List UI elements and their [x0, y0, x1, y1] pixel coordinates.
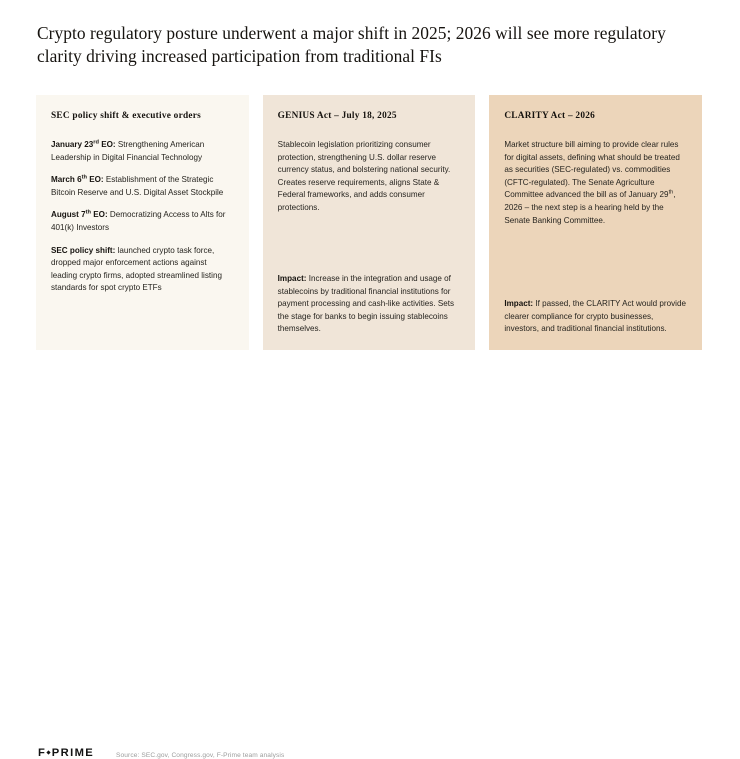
- card-body: Stablecoin legislation prioritizing cons…: [278, 139, 461, 215]
- bullet-march-eo: March 6th EO: Establishment of the Strat…: [51, 174, 234, 199]
- logo-text-left: F: [38, 748, 46, 759]
- card-clarity-act: CLARITY Act – 2026 Market structure bill…: [489, 95, 702, 350]
- impact-lead: Impact:: [504, 299, 533, 308]
- card-spacer: [504, 227, 687, 298]
- bullet-january-eo: January 23rd EO: Strengthening American …: [51, 139, 234, 164]
- card-description: Stablecoin legislation prioritizing cons…: [278, 139, 461, 215]
- bullet-lead: January 23: [51, 140, 93, 149]
- bullet-lead-tail: EO:: [87, 175, 104, 184]
- card-title: GENIUS Act – July 18, 2025: [278, 111, 461, 121]
- bullet-lead: March 6: [51, 175, 82, 184]
- card-genius-act: GENIUS Act – July 18, 2025 Stablecoin le…: [263, 95, 476, 350]
- card-description: Market structure bill aiming to provide …: [504, 139, 687, 227]
- card-impact: Impact: If passed, the CLARITY Act would…: [504, 298, 687, 336]
- source-note: Source: SEC.gov, Congress.gov, F-Prime t…: [116, 752, 284, 759]
- bullet-lead: SEC policy shift:: [51, 246, 115, 255]
- card-row: SEC policy shift & executive orders Janu…: [36, 95, 702, 350]
- bullet-lead-tail: EO:: [99, 140, 116, 149]
- card-sec-policy-shift: SEC policy shift & executive orders Janu…: [36, 95, 249, 350]
- impact-lead: Impact:: [278, 274, 307, 283]
- fprime-logo: FPRIME: [38, 748, 94, 759]
- footer: FPRIME Source: SEC.gov, Congress.gov, F-…: [0, 370, 740, 415]
- bullet-lead-tail: EO:: [91, 210, 108, 219]
- logo-separator-icon: [47, 750, 51, 754]
- bullet-august-eo: August 7th EO: Democratizing Access to A…: [51, 209, 234, 234]
- card-title: CLARITY Act – 2026: [504, 111, 687, 121]
- card-title: SEC policy shift & executive orders: [51, 111, 234, 121]
- description-pre: Market structure bill aiming to provide …: [504, 140, 679, 199]
- page-title: Crypto regulatory posture underwent a ma…: [37, 22, 677, 67]
- card-body: January 23rd EO: Strengthening American …: [51, 139, 234, 295]
- bullet-lead: August 7: [51, 210, 86, 219]
- card-impact: Impact: Increase in the integration and …: [278, 273, 461, 336]
- bullet-sec-policy-shift: SEC policy shift: launched crypto task f…: [51, 245, 234, 295]
- logo-text-right: PRIME: [52, 748, 94, 759]
- card-spacer: [278, 215, 461, 273]
- card-body: Market structure bill aiming to provide …: [504, 139, 687, 227]
